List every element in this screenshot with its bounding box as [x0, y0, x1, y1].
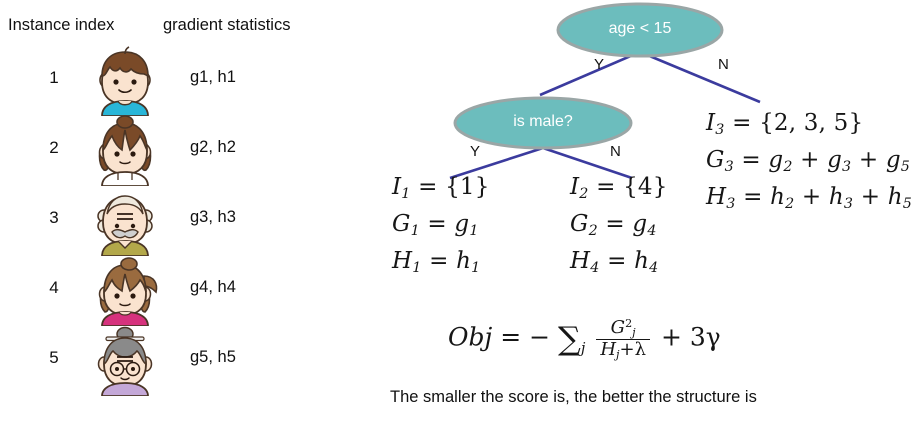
- grandma-avatar: [88, 324, 162, 396]
- slide-canvas: Instance index gradient statistics 1 g1,…: [0, 0, 920, 421]
- leaf-3-G-sub: 3: [725, 159, 734, 175]
- leaf-3-I-value: {2, 3, 5}: [759, 110, 863, 136]
- row-index: 5: [40, 348, 68, 368]
- objective-lhs: Obj: [448, 323, 492, 352]
- edge-root-no: [640, 52, 760, 102]
- leaf-1-H: H1 = h1: [392, 246, 490, 283]
- leaf-2-stats: I2 = {4} G2 = g4 H4 = h4: [570, 172, 668, 283]
- leaf-2-G-var: G: [570, 211, 589, 237]
- leaf-2-G-value: g: [632, 211, 647, 237]
- leaf-2-instances: I2 = {4}: [570, 172, 668, 209]
- leaf-1-G-sub: 1: [411, 223, 420, 239]
- row-gradient-statistics: g4, h4: [190, 278, 236, 297]
- tree-node-root-label[interactable]: age < 15: [560, 20, 720, 38]
- objective-numerator: G2j: [596, 318, 650, 339]
- leaf-3-G: G3 = g2 + g3 + g5: [706, 145, 912, 182]
- leaf-3-H: H3 = h2 + h3 + h5: [706, 182, 912, 219]
- leaf-1-I-value: {1}: [445, 174, 490, 200]
- leaf-1-H-value: h: [456, 248, 471, 274]
- table-row: 3 g3, h3: [0, 186, 340, 256]
- leaf-1-G-value-sub: 1: [469, 223, 478, 239]
- row-gradient-statistics: g3, h3: [190, 208, 236, 227]
- edge-label-left-yes: Y: [470, 143, 480, 160]
- h5: h: [888, 184, 903, 210]
- row-gradient-statistics: g2, h2: [190, 138, 236, 157]
- equals-sign: =: [429, 248, 448, 274]
- equals-sign: =: [743, 184, 762, 210]
- equals-sign: =: [605, 211, 624, 237]
- leaf-2-H-var: H: [570, 248, 590, 274]
- equals-sign: =: [607, 248, 626, 274]
- caption-text: The smaller the score is, the better the…: [390, 388, 757, 407]
- table-row: 1 g1, h1: [0, 46, 340, 116]
- objective-fraction: G2j Hj+λ: [596, 318, 650, 362]
- equals-sign: =: [427, 211, 446, 237]
- leaf-1-stats: I1 = {1} G1 = g1 H1 = h1: [392, 172, 490, 283]
- leaf-2-G: G2 = g4: [570, 209, 668, 246]
- table-row: 4 g4, h4: [0, 256, 340, 326]
- leaf-1-H-var: H: [392, 248, 412, 274]
- plus-sign: +: [861, 184, 880, 210]
- leaf-2-H-value-sub: 4: [649, 260, 658, 276]
- leaf-2-I-value: {4}: [623, 174, 668, 200]
- summation-icon: ∑: [558, 319, 581, 357]
- leaf-1-G: G1 = g1: [392, 209, 490, 246]
- leaf-3-H-sub: 3: [726, 196, 735, 212]
- leaf-2-I-sub: 2: [579, 186, 588, 202]
- equals-sign: =: [596, 174, 615, 200]
- edge-label-root-no: N: [718, 56, 729, 73]
- leaf-2-I: I: [570, 174, 579, 200]
- equals-sign: =: [732, 110, 751, 136]
- objective-equals: =: [500, 323, 521, 352]
- leaf-2-H: H4 = h4: [570, 246, 668, 283]
- girl2-avatar: [88, 254, 162, 326]
- objective-plus: +: [661, 323, 682, 352]
- plus-sign: +: [800, 147, 819, 173]
- g3: g: [827, 147, 842, 173]
- equals-sign: =: [741, 147, 760, 173]
- leaf-3-H-var: H: [706, 184, 726, 210]
- h2: h: [770, 184, 785, 210]
- edge-label-root-yes: Y: [594, 56, 604, 73]
- objective-denominator: Hj+λ: [596, 339, 650, 362]
- leaf-1-G-value: g: [454, 211, 469, 237]
- summation-index: j: [581, 341, 586, 357]
- boy-avatar: [88, 44, 162, 116]
- leaf-3-stats: I3 = {2, 3, 5} G3 = g2 + g3 + g5 H3 = h2…: [706, 108, 912, 219]
- objective-minus: −: [529, 323, 550, 352]
- plus-sign: +: [859, 147, 878, 173]
- plus-sign: +: [802, 184, 821, 210]
- leaf-1-I-sub: 1: [401, 186, 410, 202]
- leaf-1-I: I: [392, 174, 401, 200]
- g2: g: [768, 147, 783, 173]
- grandpa-avatar: [88, 184, 162, 256]
- row-index: 1: [40, 68, 68, 88]
- equals-sign: =: [418, 174, 437, 200]
- leaf-2-G-value-sub: 4: [647, 223, 656, 239]
- objective-gamma-term: 3γ: [690, 323, 721, 352]
- row-index: 3: [40, 208, 68, 228]
- girl-avatar: [88, 114, 162, 186]
- edge-label-left-no: N: [610, 143, 621, 160]
- leaf-2-H-sub: 4: [590, 260, 599, 276]
- g5: g: [886, 147, 901, 173]
- leaf-1-H-sub: 1: [412, 260, 421, 276]
- column-header-gradient-statistics: gradient statistics: [163, 16, 290, 35]
- objective-formula: Obj = − ∑j G2j Hj+λ + 3γ: [448, 318, 721, 362]
- row-index: 2: [40, 138, 68, 158]
- leaf-2-H-value: h: [634, 248, 649, 274]
- edge-root-yes: [540, 52, 640, 95]
- leaf-3-I: I: [706, 110, 715, 136]
- table-row: 5 g5, h5: [0, 326, 340, 396]
- leaf-2-G-sub: 2: [589, 223, 598, 239]
- table-row: 2 g2, h2: [0, 116, 340, 186]
- leaf-3-instances: I3 = {2, 3, 5}: [706, 108, 912, 145]
- leaf-3-I-sub: 3: [715, 122, 724, 138]
- row-gradient-statistics: g1, h1: [190, 68, 236, 87]
- leaf-1-G-var: G: [392, 211, 411, 237]
- leaf-1-H-value-sub: 1: [471, 260, 480, 276]
- tree-node-is-male-label[interactable]: is male?: [463, 113, 623, 131]
- row-index: 4: [40, 278, 68, 298]
- row-gradient-statistics: g5, h5: [190, 348, 236, 367]
- column-header-instance-index: Instance index: [8, 16, 114, 35]
- leaf-3-G-var: G: [706, 147, 725, 173]
- h3: h: [829, 184, 844, 210]
- leaf-1-instances: I1 = {1}: [392, 172, 490, 209]
